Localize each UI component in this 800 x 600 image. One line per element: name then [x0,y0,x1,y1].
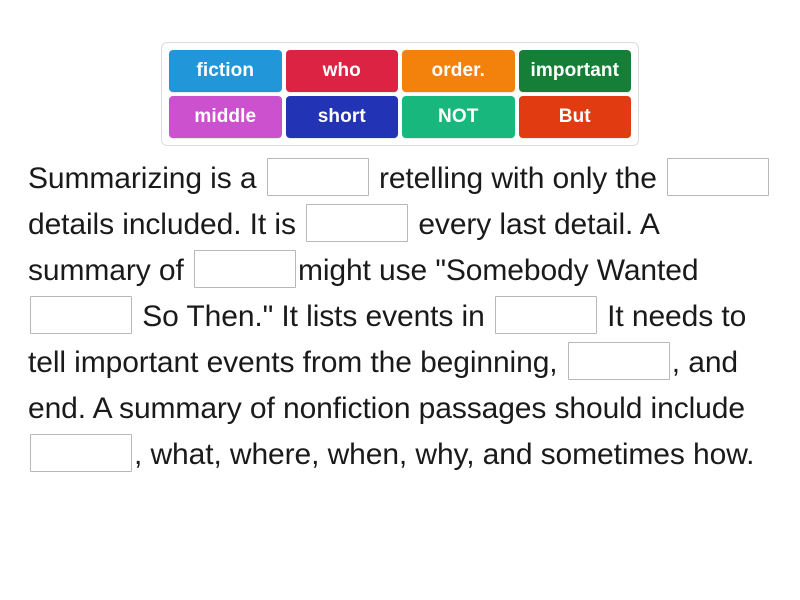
blank-8[interactable] [30,434,132,472]
blank-5[interactable] [30,296,132,334]
word-tile-not[interactable]: NOT [402,96,515,138]
word-bank-row: fictionwhoorder.important [169,50,631,92]
blank-2[interactable] [667,158,769,196]
word-bank: fictionwhoorder.importantmiddleshortNOTB… [161,42,639,146]
passage-run: , what, where, when, why, and sometimes … [134,438,754,471]
passage-run: So Then." It lists events in [134,300,493,333]
word-tile-short[interactable]: short [286,96,399,138]
word-tile-fiction[interactable]: fiction [169,50,282,92]
blank-7[interactable] [568,342,670,380]
blank-4[interactable] [194,250,296,288]
word-tile-who[interactable]: who [286,50,399,92]
passage-run: retelling with only the [371,162,665,195]
word-tile-order[interactable]: order. [402,50,515,92]
passage-run: Summarizing is a [28,162,265,195]
word-tile-important[interactable]: important [519,50,632,92]
blank-6[interactable] [495,296,597,334]
word-bank-row: middleshortNOTBut [169,96,631,138]
blank-1[interactable] [267,158,369,196]
word-tile-but[interactable]: But [519,96,632,138]
word-tile-middle[interactable]: middle [169,96,282,138]
blank-3[interactable] [306,204,408,242]
passage-run: might use "Somebody Wanted [298,254,707,287]
passage-text: Summarizing is a retelling with only the… [28,156,776,478]
